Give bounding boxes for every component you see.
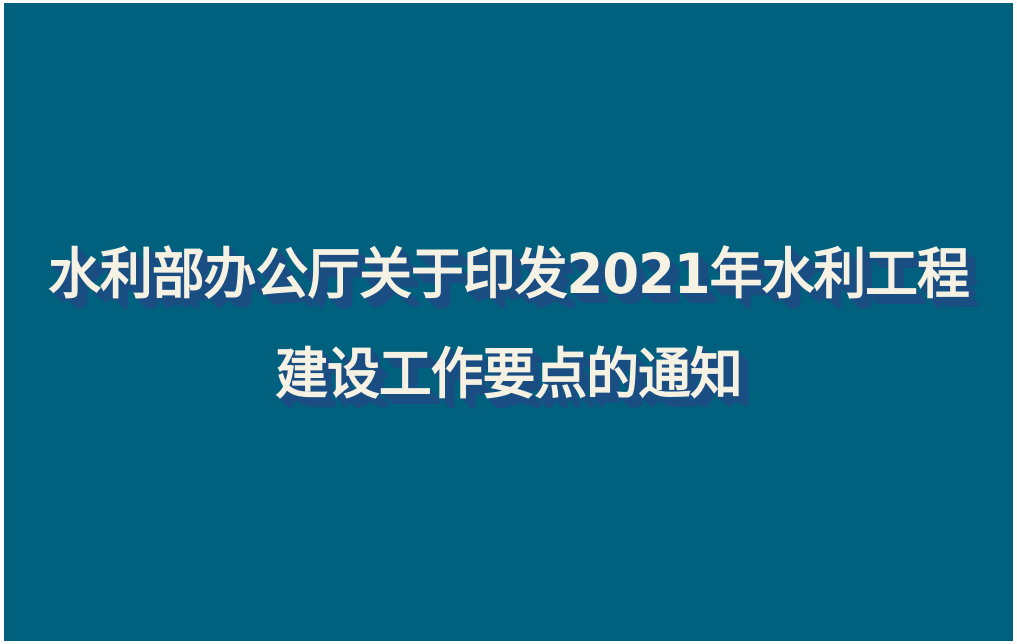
title-line-2: 建设工作要点的通知: [24, 335, 993, 413]
title-block: 水利部办公厅关于印发2021年水利工程 建设工作要点的通知: [4, 235, 1013, 413]
title-line-1: 水利部办公厅关于印发2021年水利工程: [24, 235, 993, 313]
banner-canvas: 水利部办公厅关于印发2021年水利工程 建设工作要点的通知: [4, 3, 1013, 641]
banner-root: 水利部办公厅关于印发2021年水利工程 建设工作要点的通知: [0, 0, 1017, 644]
